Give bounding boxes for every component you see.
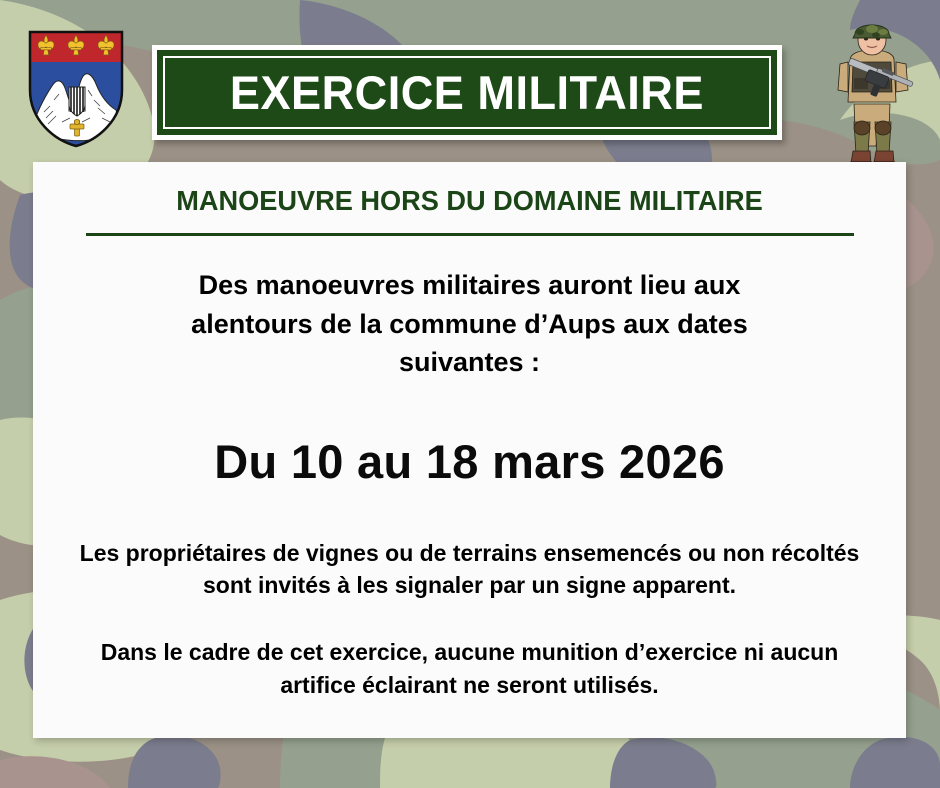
note-landowners: Les propriétaires de vignes ou de terrai… (51, 489, 888, 602)
title-banner: EXERCICE MILITAIRE (152, 45, 782, 140)
military-exercise-poster: EXERCICE MILITAIRE MANOEUVRE HORS DU DOM… (0, 0, 940, 788)
banner-title-text: EXERCICE MILITAIRE (230, 69, 704, 116)
content-panel: MANOEUVRE HORS DU DOMAINE MILITAIRE Des … (33, 162, 906, 738)
coat-of-arms-icon (26, 28, 126, 150)
soldier-illustration (820, 18, 924, 170)
panel-subtitle: MANOEUVRE HORS DU DOMAINE MILITAIRE (64, 162, 876, 217)
exercise-dates: Du 10 au 18 mars 2026 (51, 382, 888, 489)
lead-paragraph: Des manoeuvres militaires auront lieu au… (51, 236, 888, 382)
title-banner-inner-border: EXERCICE MILITAIRE (163, 56, 771, 129)
note-ammunition: Dans le cadre de cet exercice, aucune mu… (51, 602, 888, 701)
